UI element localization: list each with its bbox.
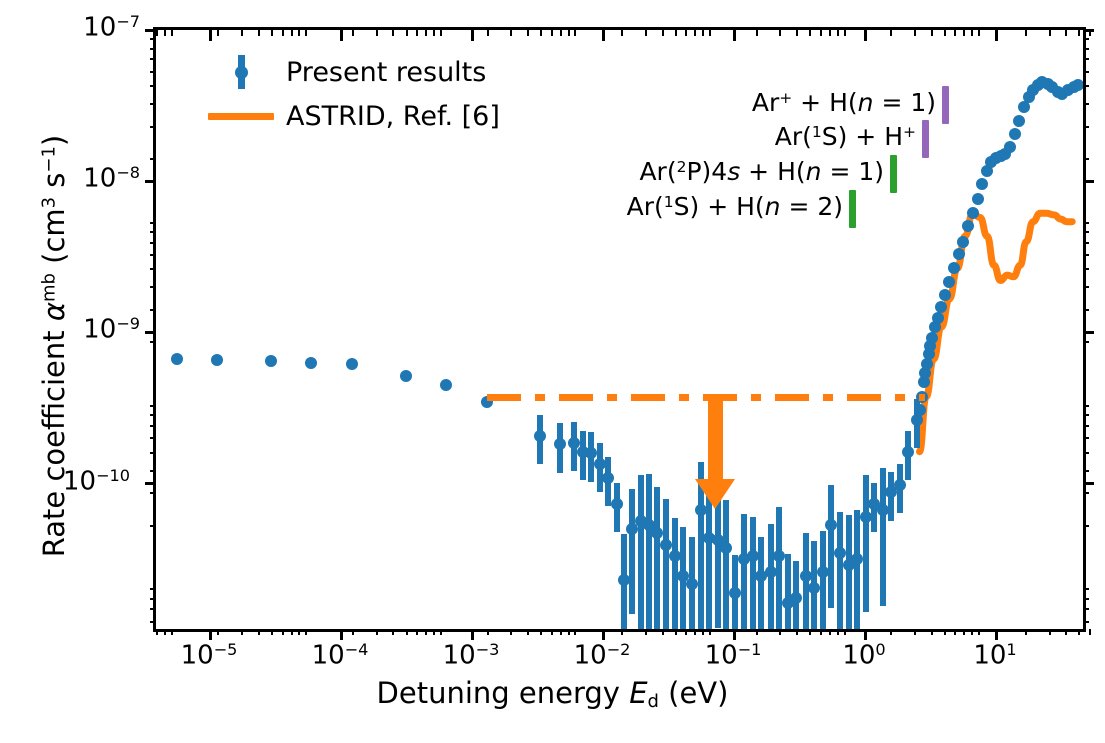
data-point: [976, 178, 988, 190]
x-tick-minor: [914, 629, 916, 635]
x-tick-minor: [574, 629, 576, 635]
error-bar: [638, 475, 644, 629]
x-tick-minor: [440, 629, 442, 635]
y-tick-minor-right: [1083, 425, 1089, 427]
x-tick-minor: [621, 629, 623, 635]
data-point: [265, 355, 277, 367]
y-tick-minor-right: [1083, 437, 1089, 439]
data-point: [611, 498, 623, 510]
error-bar: [715, 499, 721, 628]
x-tick-minor: [433, 629, 435, 635]
x-tick-minor: [837, 629, 839, 635]
y-tick-minor-right: [1083, 254, 1089, 256]
y-tick-minor-right: [1083, 126, 1089, 128]
data-point: [851, 553, 863, 565]
y-tick-minor-right: [1083, 71, 1089, 73]
data-point: [1013, 115, 1025, 127]
data-point: [953, 248, 965, 260]
y-tick-minor-right: [1083, 58, 1089, 60]
x-tick-minor: [487, 629, 489, 635]
x-tick-minor: [164, 629, 166, 635]
y-tick-minor-right: [1083, 588, 1089, 590]
y-tick-minor-right: [1083, 286, 1089, 288]
y-tick-label-1e-10: 10−10: [0, 466, 130, 496]
upper-limit-arrow-head: [695, 479, 735, 509]
data-point: [817, 566, 829, 578]
data-point: [926, 332, 938, 344]
data-point: [660, 539, 672, 551]
error-bar: [646, 474, 652, 629]
x-tick-minor: [931, 629, 933, 635]
error-bar: [776, 507, 782, 629]
x-tick-label-1e-1: 10−1: [673, 640, 793, 670]
data-point: [729, 587, 741, 599]
x-tick-minor: [944, 629, 946, 635]
data-point: [957, 236, 969, 248]
x-tick-major: [340, 629, 343, 640]
x-tick-minor: [685, 629, 687, 635]
x-tick-minor: [282, 629, 284, 635]
y-tick-major-right: [1083, 331, 1094, 334]
x-tick-minor: [416, 629, 418, 635]
data-point: [894, 479, 906, 491]
x-tick-minor: [560, 629, 562, 635]
x-tick-label-1e1: 101: [935, 640, 1055, 670]
x-tick-minor: [809, 629, 811, 635]
y-tick-minor-right: [1083, 222, 1089, 224]
x-tick-major: [733, 629, 736, 640]
x-tick-minor: [820, 629, 822, 635]
x-tick-minor: [971, 629, 973, 635]
x-tick-minor: [645, 629, 647, 635]
error-bar: [828, 485, 834, 608]
data-point: [877, 504, 889, 516]
error-bar: [863, 475, 869, 612]
x-axis-title: Detuning energy E_d (eV) Detuning energy…: [0, 676, 1105, 712]
x-axis-title-rendered: Detuning energy Ed (eV): [377, 676, 729, 710]
x-tick-minor: [954, 629, 956, 635]
data-point: [834, 547, 846, 559]
x-tick-major: [864, 629, 867, 640]
y-tick-minor-right: [1083, 38, 1089, 40]
astrid-curve: [156, 30, 1083, 629]
x-tick-minor: [392, 629, 394, 635]
x-tick-label-1e-4: 10−4: [280, 640, 400, 670]
y-tick-label-1e-9: 10−9: [10, 314, 140, 344]
error-bar: [629, 489, 635, 614]
y-tick-major: [145, 180, 156, 183]
x-tick-minor: [1089, 629, 1091, 635]
data-layer: [156, 30, 1083, 629]
data-point: [967, 207, 979, 219]
y-tick-minor-right: [1083, 242, 1089, 244]
x-tick-minor: [291, 629, 293, 635]
x-tick-minor: [978, 629, 980, 635]
data-point: [171, 353, 183, 365]
y-tick-minor-right: [1083, 470, 1089, 472]
x-tick-minor: [568, 629, 570, 635]
x-tick-minor: [796, 629, 798, 635]
x-tick-label-1e-5: 10−5: [149, 640, 269, 670]
data-point: [972, 193, 984, 205]
x-tick-minor: [425, 629, 427, 635]
x-tick-minor: [376, 629, 378, 635]
error-bar: [758, 537, 764, 629]
x-tick-minor: [510, 629, 512, 635]
data-point: [651, 527, 663, 539]
data-point: [939, 289, 951, 301]
y-tick-minor-right: [1083, 598, 1089, 600]
y-tick-major: [145, 331, 156, 334]
x-tick-minor: [217, 629, 219, 635]
error-bar: [663, 499, 669, 629]
data-point: [1072, 79, 1083, 91]
y-tick-minor-right: [1083, 405, 1089, 407]
data-point: [534, 430, 546, 442]
y-tick-minor-right: [1083, 158, 1089, 160]
x-tick-minor: [1065, 629, 1067, 635]
error-bar: [820, 531, 826, 629]
data-point: [935, 301, 947, 313]
y-axis-title: Rate coefficient α^mb (cm^3 s^-1) Rate c…: [37, 36, 71, 656]
x-tick-minor: [171, 629, 173, 635]
data-point: [400, 370, 412, 382]
data-point: [808, 582, 820, 594]
data-point: [790, 592, 802, 604]
x-tick-minor: [551, 629, 553, 635]
x-tick-minor: [709, 629, 711, 635]
y-tick-minor-right: [1083, 85, 1089, 87]
data-point: [932, 312, 944, 324]
astrid-upper-limit-line: [487, 394, 925, 401]
x-tick-minor: [406, 629, 408, 635]
data-point: [1004, 141, 1016, 153]
x-tick-minor: [675, 629, 677, 635]
y-tick-minor-right: [1083, 414, 1089, 416]
x-tick-minor: [305, 629, 307, 635]
x-tick-label-1e-3: 10−3: [411, 640, 531, 670]
y-tick-minor-right: [1083, 452, 1089, 454]
x-tick-minor: [271, 629, 273, 635]
y-tick-minor-right: [1083, 103, 1089, 105]
x-tick-major: [209, 629, 212, 640]
data-point: [602, 472, 614, 484]
data-point: [747, 550, 759, 562]
x-tick-label-1e0: 100: [804, 640, 924, 670]
y-tick-minor-right: [1083, 621, 1089, 623]
y-tick-label-1e-8: 10−8: [10, 163, 140, 193]
y-tick-minor-right: [1083, 525, 1089, 527]
x-tick-major: [471, 629, 474, 640]
x-tick-minor: [352, 629, 354, 635]
x-tick-minor: [241, 629, 243, 635]
x-tick-minor: [258, 629, 260, 635]
data-point: [914, 404, 926, 416]
y-tick-minor-right: [1083, 608, 1089, 610]
data-point: [686, 578, 698, 590]
x-tick-major: [602, 629, 605, 640]
data-point: [720, 542, 732, 554]
data-point: [1009, 128, 1021, 140]
x-tick-minor: [1025, 629, 1027, 635]
error-bar: [846, 515, 852, 629]
data-point: [902, 446, 914, 458]
error-bar: [723, 500, 729, 630]
x-tick-minor: [1078, 629, 1080, 635]
y-tick-minor-right: [1083, 231, 1089, 233]
y-tick-major-right: [1083, 180, 1094, 183]
y-tick-minor-right: [1083, 309, 1089, 311]
y-tick-minor-right: [1083, 268, 1089, 270]
x-tick-minor: [756, 629, 758, 635]
x-tick-minor: [156, 629, 158, 635]
plot-area: Present results ASTRID, Ref. [6] Ar+ + H…: [153, 27, 1086, 632]
x-tick-minor-top: [1089, 30, 1091, 36]
y-tick-major: [145, 482, 156, 485]
x-tick-minor: [779, 629, 781, 635]
data-point: [825, 519, 837, 531]
error-bar: [706, 490, 712, 629]
x-tick-minor: [662, 629, 664, 635]
upper-limit-arrow-shaft: [708, 397, 723, 482]
x-tick-label-1e-2: 10−2: [542, 640, 662, 670]
y-tick-minor-right: [1083, 48, 1089, 50]
y-tick-minor-right: [1083, 492, 1089, 494]
y-tick-label-1e-7: 10−7: [10, 12, 140, 42]
error-bar: [785, 554, 791, 629]
data-point: [860, 511, 872, 523]
x-tick-minor: [829, 629, 831, 635]
x-tick-minor: [844, 629, 846, 635]
x-tick-major: [995, 629, 998, 640]
error-bar: [854, 510, 860, 629]
data-point: [554, 438, 566, 450]
x-tick-minor: [1049, 629, 1051, 635]
x-tick-minor: [527, 629, 529, 635]
y-tick-major: [145, 29, 156, 32]
x-tick-minor: [694, 629, 696, 635]
figure-canvas: Rate coefficient α^mb (cm^3 s^-1) Rate c…: [0, 0, 1105, 743]
y-tick-minor-right: [1083, 341, 1089, 343]
x-tick-minor: [963, 629, 965, 635]
x-tick-minor: [702, 629, 704, 635]
error-bar: [837, 512, 843, 629]
data-point: [669, 550, 681, 562]
x-tick-minor: [540, 629, 542, 635]
x-tick-minor: [890, 629, 892, 635]
x-tick-minor: [298, 629, 300, 635]
error-bar: [654, 487, 660, 629]
y-tick-major-right: [1083, 482, 1094, 485]
error-bar: [741, 514, 747, 629]
